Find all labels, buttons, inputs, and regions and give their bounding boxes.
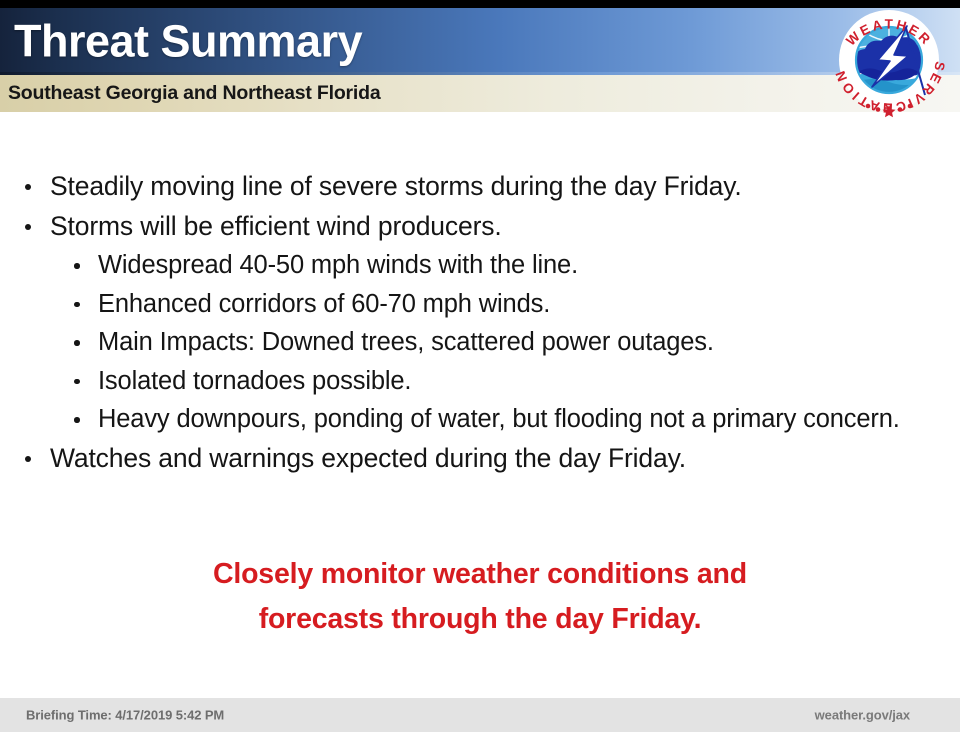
list-item: Enhanced corridors of 60-70 mph winds.	[0, 285, 900, 324]
bullet-dot-icon	[74, 340, 80, 346]
website-link[interactable]: weather.gov/jax	[815, 708, 910, 723]
bullet-text: Heavy downpours, ponding of water, but f…	[98, 400, 900, 439]
bullet-text: Enhanced corridors of 60-70 mph winds.	[98, 285, 900, 324]
slide-threat-summary: Threat Summary Southeast Georgia and Nor…	[0, 0, 960, 732]
list-item: Steadily moving line of severe storms du…	[0, 167, 900, 206]
bullet-dot-icon	[74, 417, 80, 423]
bullet-dot-icon	[25, 224, 31, 230]
bullet-dot-icon	[74, 263, 80, 269]
list-item: Storms will be efficient wind producers.	[0, 207, 900, 246]
header-title-band: Threat Summary	[0, 8, 960, 75]
bullet-dot-icon	[74, 302, 80, 308]
slide-content: Steadily moving line of severe storms du…	[0, 112, 960, 698]
alert-line-2: forecasts through the day Friday.	[0, 597, 960, 642]
bullet-text: Isolated tornadoes possible.	[98, 362, 900, 401]
list-item: Widespread 40-50 mph winds with the line…	[0, 246, 900, 285]
list-item: Main Impacts: Downed trees, scattered po…	[0, 323, 900, 362]
bullet-text: Widespread 40-50 mph winds with the line…	[98, 246, 900, 285]
list-item: Isolated tornadoes possible.	[0, 362, 900, 401]
bullet-text: Storms will be efficient wind producers.	[50, 207, 900, 246]
page-title: Threat Summary	[14, 18, 362, 63]
alert-line-1: Closely monitor weather conditions and	[0, 552, 960, 597]
top-black-strip	[0, 0, 960, 8]
list-item: Watches and warnings expected during the…	[0, 439, 900, 478]
header-subtitle-band: Southeast Georgia and Northeast Florida	[0, 75, 960, 112]
list-item: Heavy downpours, ponding of water, but f…	[0, 400, 900, 439]
bullet-text: Steadily moving line of severe storms du…	[50, 167, 900, 206]
bullet-text: Main Impacts: Downed trees, scattered po…	[98, 323, 900, 362]
nws-logo: WEATHER SERVICE NATIONAL	[828, 2, 950, 122]
footer-bar: Briefing Time: 4/17/2019 5:42 PM weather…	[0, 698, 960, 732]
briefing-time: Briefing Time: 4/17/2019 5:42 PM	[26, 708, 224, 723]
bullet-list: Steadily moving line of severe storms du…	[0, 167, 900, 478]
bullet-dot-icon	[74, 379, 80, 385]
page-subtitle: Southeast Georgia and Northeast Florida	[8, 83, 381, 103]
bullet-text: Watches and warnings expected during the…	[50, 439, 900, 478]
bullet-dot-icon	[25, 184, 31, 190]
bullet-dot-icon	[25, 456, 31, 462]
alert-callout: Closely monitor weather conditions and f…	[0, 552, 960, 642]
